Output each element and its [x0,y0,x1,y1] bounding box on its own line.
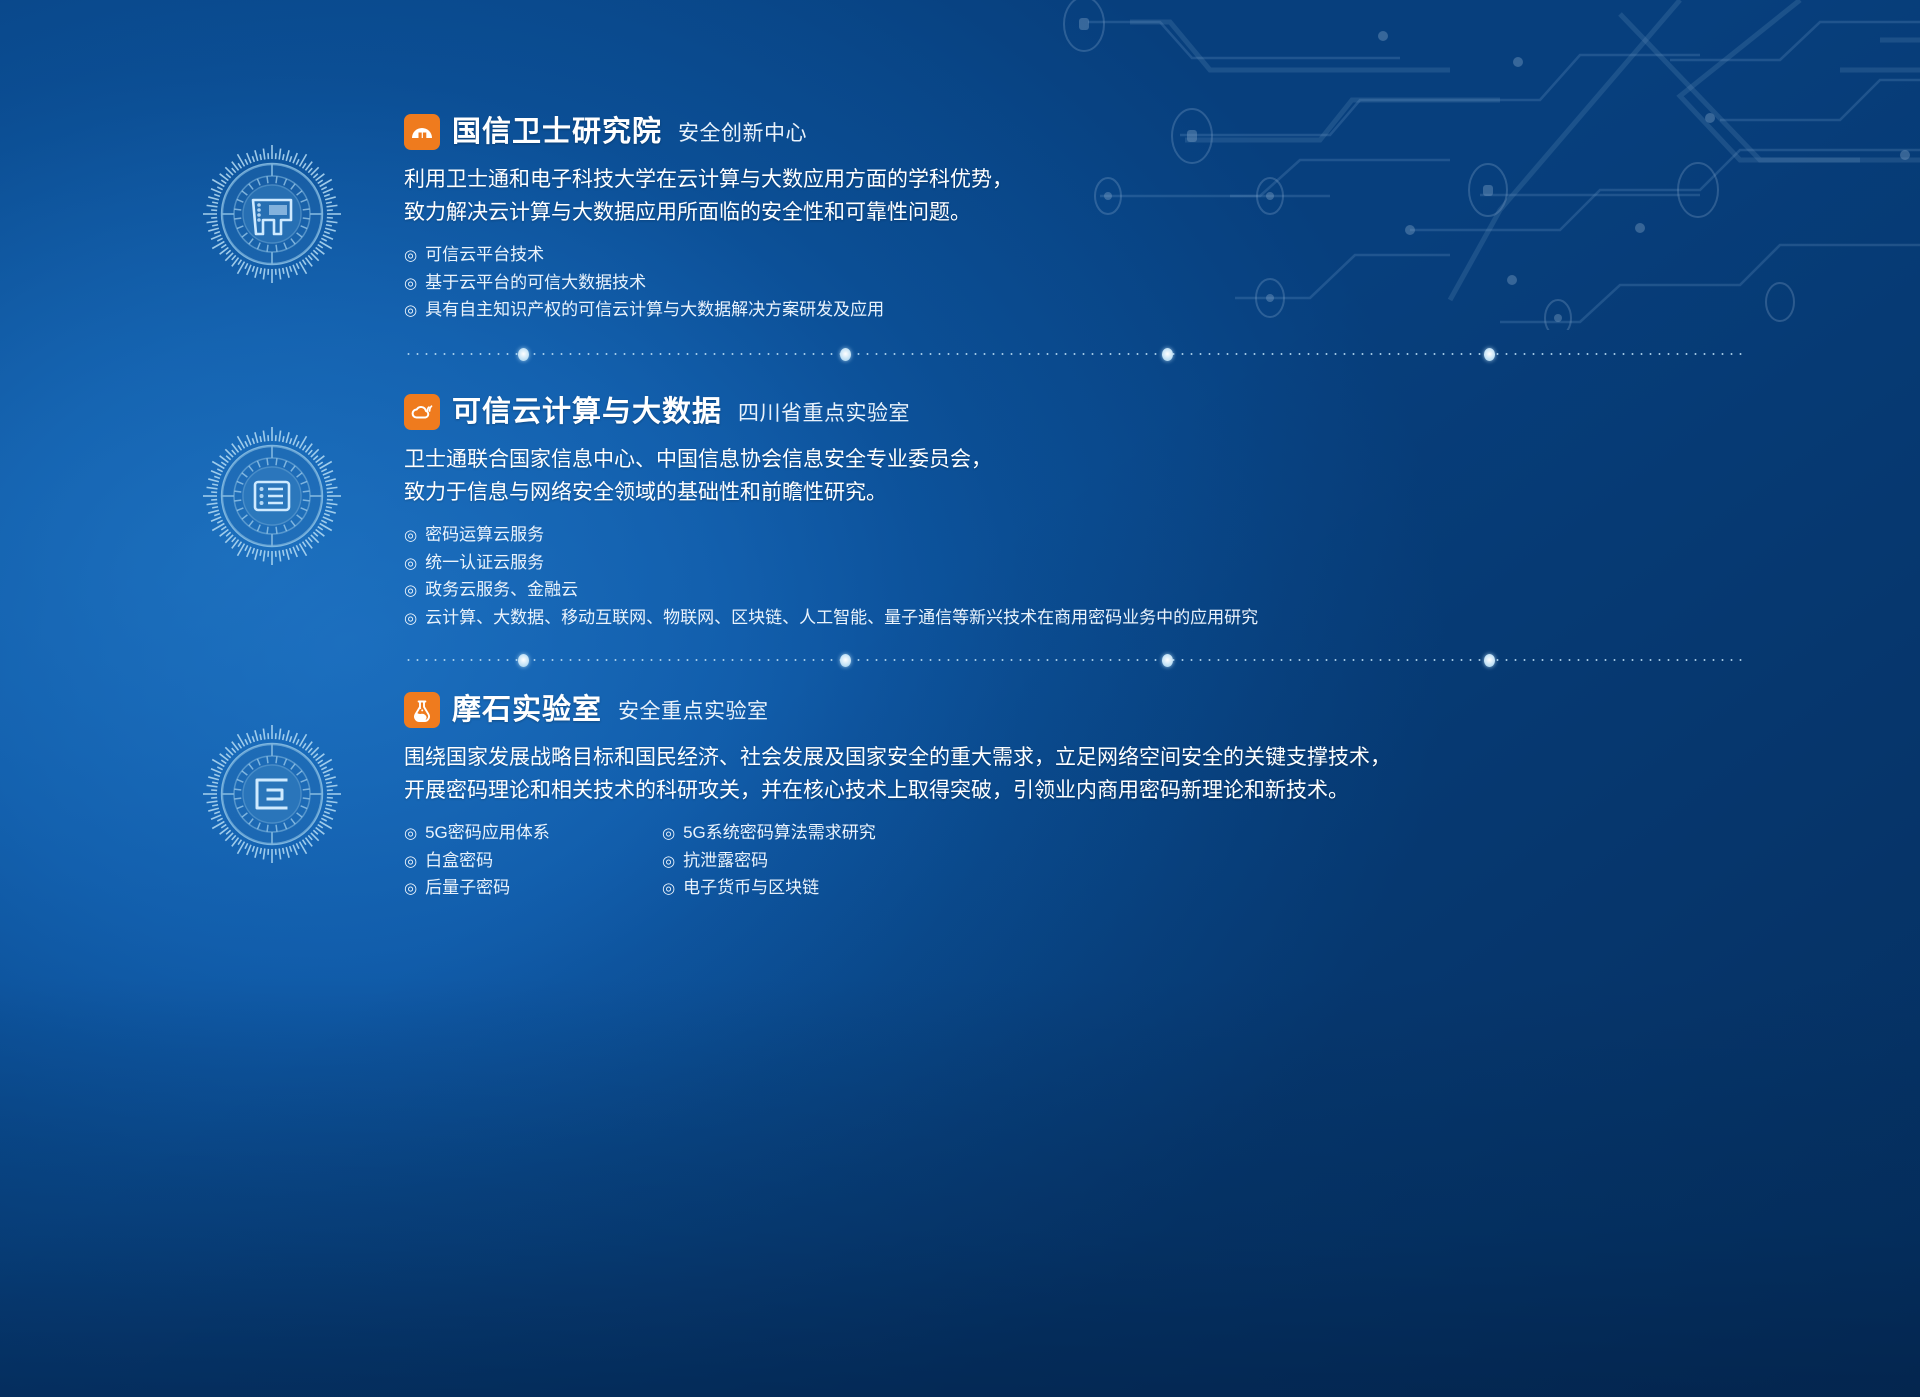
description-line: 卫士通联合国家信息中心、中国信息协会信息安全专业委员会， [404,444,1258,477]
list-item-label: 抗泄露密码 [683,847,768,875]
description-line: 利用卫士通和电子科技大学在云计算与大数应用方面的学科优势， [404,164,1013,197]
description-line: 围绕国家发展战略目标和国民经济、社会发展及国家安全的重大需求，立足网络空间安全的… [404,742,1391,775]
bullet-marker-icon: ◎ [404,524,417,548]
divider-node-dot [1162,654,1173,667]
bullet-marker-icon: ◎ [404,850,417,874]
list-item-label: 电子货币与区块链 [683,874,819,902]
section-title: 摩石实验室 [452,696,602,725]
section-bullet-list: ◎密码运算云服务 ◎统一认证云服务 ◎政务云服务、金融云 ◎云计算、大数据、移动… [404,521,1258,631]
list-item-label: 政务云服务、金融云 [425,576,578,604]
badge-crypto-lab-icon [200,722,344,866]
list-item-label: 密码运算云服务 [425,521,544,549]
section-description: 卫士通联合国家信息中心、中国信息协会信息安全专业委员会， 致力于信息与网络安全领… [404,444,1258,509]
list-item-label: 具有自主知识产权的可信云计算与大数据解决方案研发及应用 [425,296,884,324]
list-item: ◎基于云平台的可信大数据技术 [404,269,1013,297]
arch-dome-icon [404,114,440,150]
list-item: ◎抗泄露密码 [662,847,1391,875]
divider-dotted-line [404,659,1746,661]
list-item-label: 云计算、大数据、移动互联网、物联网、区块链、人工智能、量子通信等新兴技术在商用密… [425,604,1258,632]
section-description: 利用卫士通和电子科技大学在云计算与大数应用方面的学科优势， 致力解决云计算与大数… [404,164,1013,229]
list-item: ◎政务云服务、金融云 [404,576,1258,604]
list-item-label: 基于云平台的可信大数据技术 [425,269,646,297]
section-subtitle: 四川省重点实验室 [734,397,910,427]
bullet-marker-icon: ◎ [404,299,417,323]
section-subtitle: 安全重点实验室 [614,695,769,725]
list-item: ◎密码运算云服务 [404,521,1258,549]
list-item-label: 后量子密码 [425,874,510,902]
bullet-marker-icon: ◎ [404,877,417,901]
bullet-marker-icon: ◎ [404,552,417,576]
divider-one [404,348,1746,360]
list-item: ◎5G密码应用体系 [404,819,662,847]
section-header: 可信云计算与大数据 四川省重点实验室 [404,392,1258,432]
section-header: 国信卫士研究院 安全创新中心 [404,112,1013,152]
divider-dotted-line [404,353,1746,355]
bullet-marker-icon: ◎ [662,877,675,901]
list-item-label: 统一认证云服务 [425,549,544,577]
section-bullet-list: ◎可信云平台技术 ◎基于云平台的可信大数据技术 ◎具有自主知识产权的可信云计算与… [404,241,1013,324]
list-item: ◎具有自主知识产权的可信云计算与大数据解决方案研发及应用 [404,296,1013,324]
list-item: ◎可信云平台技术 [404,241,1013,269]
bullet-marker-icon: ◎ [662,850,675,874]
section-bullet-list: ◎5G密码应用体系 ◎5G系统密码算法需求研究 ◎白盒密码 ◎抗泄露密码 ◎后量… [404,819,1391,902]
section-title: 国信卫士研究院 [452,118,662,147]
divider-node-dot [1484,654,1495,667]
description-line: 致力解决云计算与大数据应用所面临的安全性和可靠性问题。 [404,197,1013,230]
section-subtitle: 安全创新中心 [674,117,807,147]
divider-node-dot [518,654,529,667]
section-header: 摩石实验室 安全重点实验室 [404,690,1391,730]
bullet-marker-icon: ◎ [404,607,417,631]
bullet-marker-icon: ◎ [404,579,417,603]
divider-node-dot [518,348,529,361]
bullet-marker-icon: ◎ [404,822,417,846]
bullet-marker-icon: ◎ [404,272,417,296]
section-title: 可信云计算与大数据 [452,398,722,427]
list-item-label: 5G密码应用体系 [425,819,550,847]
bullet-marker-icon: ◎ [404,244,417,268]
list-item-label: 可信云平台技术 [425,241,544,269]
list-item-label: 5G系统密码算法需求研究 [683,819,876,847]
divider-node-dot [840,654,851,667]
description-line: 开展密码理论和相关技术的科研攻关，并在核心技术上取得突破，引领业内商用密码新理论… [404,775,1391,808]
section-description: 围绕国家发展战略目标和国民经济、社会发展及国家安全的重大需求，立足网络空间安全的… [404,742,1391,807]
flask-icon [404,692,440,728]
divider-node-dot [1484,348,1495,361]
divider-two [404,654,1746,666]
divider-node-dot [840,348,851,361]
bullet-marker-icon: ◎ [662,822,675,846]
list-item: ◎5G系统密码算法需求研究 [662,819,1391,847]
cloud-signal-icon [404,394,440,430]
list-item: ◎白盒密码 [404,847,662,875]
list-item: ◎后量子密码 [404,874,662,902]
description-line: 致力于信息与网络安全领域的基础性和前瞻性研究。 [404,477,1258,510]
badge-research-institute-icon [200,142,344,286]
divider-node-dot [1162,348,1173,361]
list-item: ◎云计算、大数据、移动互联网、物联网、区块链、人工智能、量子通信等新兴技术在商用… [404,604,1258,632]
list-item-label: 白盒密码 [425,847,493,875]
list-item: ◎统一认证云服务 [404,549,1258,577]
badge-cloud-lab-icon [200,424,344,568]
list-item: ◎电子货币与区块链 [662,874,1391,902]
